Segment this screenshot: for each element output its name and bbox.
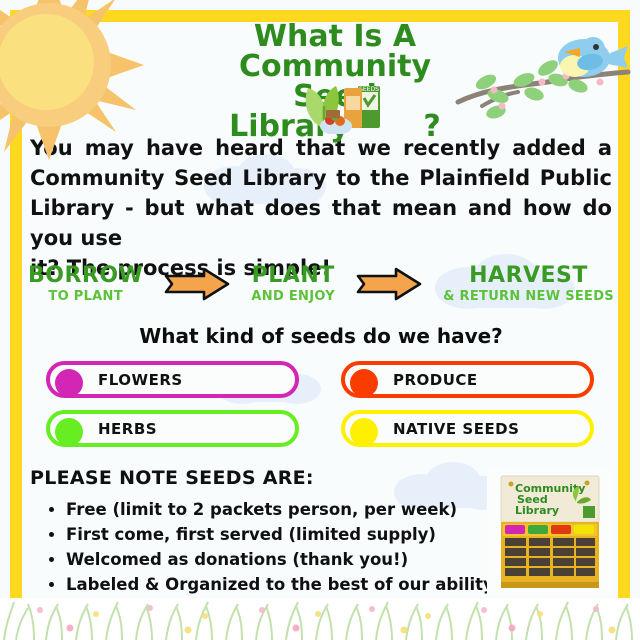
branch-icon bbox=[452, 24, 632, 120]
poster-canvas: What Is A Community Seed Library ? SEEDS… bbox=[0, 0, 640, 640]
sun-icon bbox=[0, 0, 144, 160]
grass-icon bbox=[0, 574, 640, 640]
